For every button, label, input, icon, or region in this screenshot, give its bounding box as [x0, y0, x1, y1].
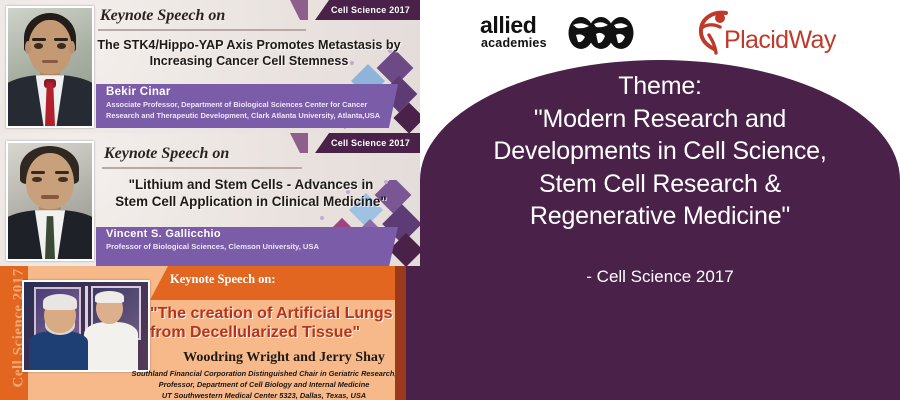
talk-title-line-2: Stem Cell Application in Clinical Medici…: [96, 194, 406, 211]
keynote-underline-1: [98, 29, 306, 31]
banner-composite: Cell Science 2017 Key: [0, 0, 900, 400]
ribbon-badge-2: Cell Science 2017: [315, 133, 420, 153]
speaker-name-3: Woodring Wright and Jerry Shay: [150, 350, 418, 366]
allied-logo-line-1: allied: [480, 14, 536, 37]
theme-panel: allied academies: [420, 0, 900, 400]
keynote-label-1: Keynote Speech on: [100, 7, 225, 25]
theme-text-block: Theme: "Modern Research and Developments…: [420, 60, 900, 400]
talk-title-1: The STK4/Hippo-YAP Axis Promotes Metasta…: [96, 38, 402, 69]
speaker-nameplate-2: Vincent S. Gallicchio Professor of Biolo…: [96, 227, 398, 266]
ribbon-badge-1: Cell Science 2017: [315, 0, 420, 20]
theme-line-4: Regenerative Medicine": [530, 200, 790, 233]
talk-title-line-1: "The creation of Artificial Lungs: [150, 304, 418, 323]
talk-title-3: "The creation of Artificial Lungs from D…: [150, 304, 418, 342]
placidway-wordmark: PlacidWay: [724, 26, 836, 55]
speaker-banner-3[interactable]: Cell Science 2017 Keynote Speech: [0, 266, 420, 400]
ribbon-label: Cell Science 2017: [331, 138, 410, 148]
talk-title-line-1: "Lithium and Stem Cells - Advances in: [96, 177, 406, 194]
theme-line-1: "Modern Research and: [534, 103, 786, 136]
talk-title-line-2: Increasing Cancer Cell Stemness: [96, 54, 402, 70]
speaker-photo-3: [22, 280, 150, 372]
ribbon-label: Cell Science 2017: [331, 5, 410, 15]
speaker-banner-2[interactable]: Cell Science 2017 Keynote Speech on: [0, 133, 420, 266]
keynote-underline-2: [102, 167, 302, 169]
speaker-photo-2: [6, 141, 94, 261]
keynote-label-3: Keynote Speech on:: [170, 272, 276, 287]
allied-logo-line-2: academies: [481, 37, 547, 50]
speaker-affiliation-2: Professor of Biological Sciences, Clemso…: [106, 241, 384, 252]
globe-icon: [568, 15, 634, 51]
talk-title-2: "Lithium and Stem Cells - Advances in St…: [96, 177, 406, 211]
placidway-logo[interactable]: PlacidWay: [690, 9, 840, 57]
theme-line-2: Developments in Cell Science,: [493, 135, 826, 168]
keynote-label-2: Keynote Speech on: [104, 145, 229, 163]
speaker-name-2: Vincent S. Gallicchio: [106, 228, 221, 240]
speaker-affiliation-1: Associate Professor, Department of Biolo…: [106, 100, 384, 121]
allied-academies-logo[interactable]: allied academies: [480, 14, 640, 54]
speaker-banner-1[interactable]: Cell Science 2017 Key: [0, 0, 420, 133]
maroon-edge-strip: [395, 266, 406, 400]
speaker-nameplate-1: Bekir Cinar Associate Professor, Departm…: [96, 84, 398, 128]
theme-credit: - Cell Science 2017: [586, 267, 733, 287]
affiliation-line-3: UT Southwestern Medical Center 5323, Dal…: [110, 390, 418, 400]
logo-row: allied academies: [420, 6, 900, 62]
affiliation-line-2: Professor, Department of Cell Biology an…: [110, 379, 418, 390]
theme-line-0: Theme:: [618, 70, 702, 103]
theme-dome: Theme: "Modern Research and Developments…: [420, 60, 900, 400]
purple-edge-strip: [406, 266, 420, 400]
speaker-name-1: Bekir Cinar: [106, 86, 171, 98]
talk-title-line-2: from Decellularized Tissue": [150, 323, 418, 342]
speaker-photo-1: [6, 6, 94, 128]
affiliation-line-1: Southland Financial Corporation Distingu…: [110, 368, 418, 379]
theme-line-3: Stem Cell Research &: [539, 168, 781, 201]
speaker-banner-column: Cell Science 2017 Key: [0, 0, 420, 400]
speaker-affiliation-3: Southland Financial Corporation Distingu…: [110, 368, 418, 400]
talk-title-line-1: The STK4/Hippo-YAP Axis Promotes Metasta…: [96, 38, 402, 54]
